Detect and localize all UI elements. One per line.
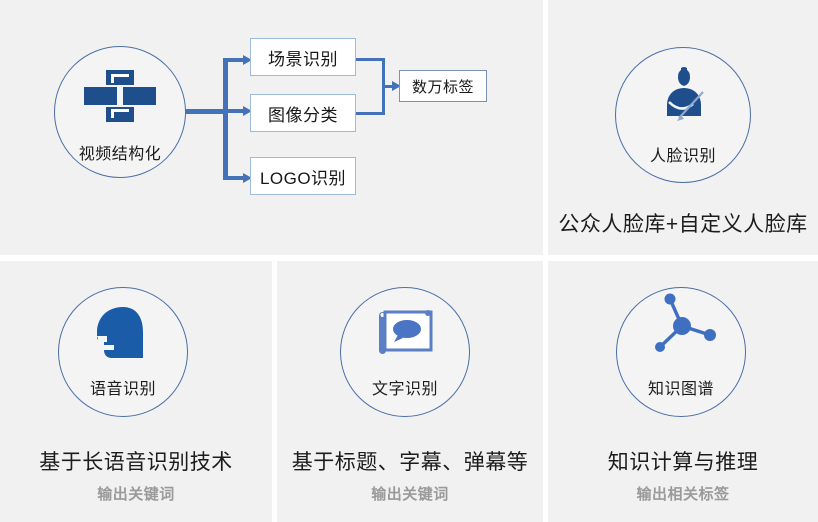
video-structure-icon [82, 70, 158, 122]
image-classification-box[interactable]: 图像分类 [250, 94, 356, 132]
knowledge-graph-subcaption: 输出相关标签 [548, 483, 818, 504]
text-recognition-circle-label: 文字识别 [340, 375, 470, 399]
text-banner-icon [371, 304, 437, 362]
infographic-root: 视频结构化 场景识别 图像分类 LOGO识别 数万标签 [0, 0, 818, 522]
text-recognition-subcaption: 输出关键词 [277, 483, 543, 504]
panel-speech-recognition: 语音识别 基于长语音识别技术 输出关键词 [0, 261, 272, 522]
face-recognition-caption: 公众人脸库+自定义人脸库 [548, 208, 818, 238]
speech-recognition-caption: 基于长语音识别技术 [0, 446, 272, 476]
logo-recognition-box[interactable]: LOGO识别 [250, 157, 356, 195]
face-recognition-icon [658, 66, 710, 122]
knowledge-graph-icon [644, 283, 726, 363]
scene-recognition-box[interactable]: 场景识别 [250, 38, 356, 76]
knowledge-graph-caption: 知识计算与推理 [548, 446, 818, 476]
text-recognition-caption: 基于标题、字幕、弹幕等 [277, 446, 543, 476]
connector-trunk [186, 109, 228, 114]
panel-text-recognition: 文字识别 基于标题、字幕、弹幕等 输出关键词 [277, 261, 543, 522]
connector-spine [223, 60, 228, 180]
face-recognition-circle-label: 人脸识别 [615, 142, 751, 166]
speech-recognition-subcaption: 输出关键词 [0, 483, 272, 504]
speech-recognition-circle-label: 语音识别 [58, 375, 188, 399]
tens-of-thousands-tags-box[interactable]: 数万标签 [399, 70, 487, 102]
connector-image-out [355, 112, 385, 115]
speech-head-icon [93, 305, 151, 365]
panel-knowledge-graph: 知识图谱 知识计算与推理 输出相关标签 [548, 261, 818, 522]
panel-video-structure: 视频结构化 场景识别 图像分类 LOGO识别 数万标签 [0, 0, 543, 255]
panel-face-recognition: 人脸识别 公众人脸库+自定义人脸库 [548, 0, 818, 255]
knowledge-graph-circle-label: 知识图谱 [616, 375, 746, 399]
connector-scene-out [355, 58, 385, 61]
video-structure-circle-label: 视频结构化 [54, 140, 186, 164]
